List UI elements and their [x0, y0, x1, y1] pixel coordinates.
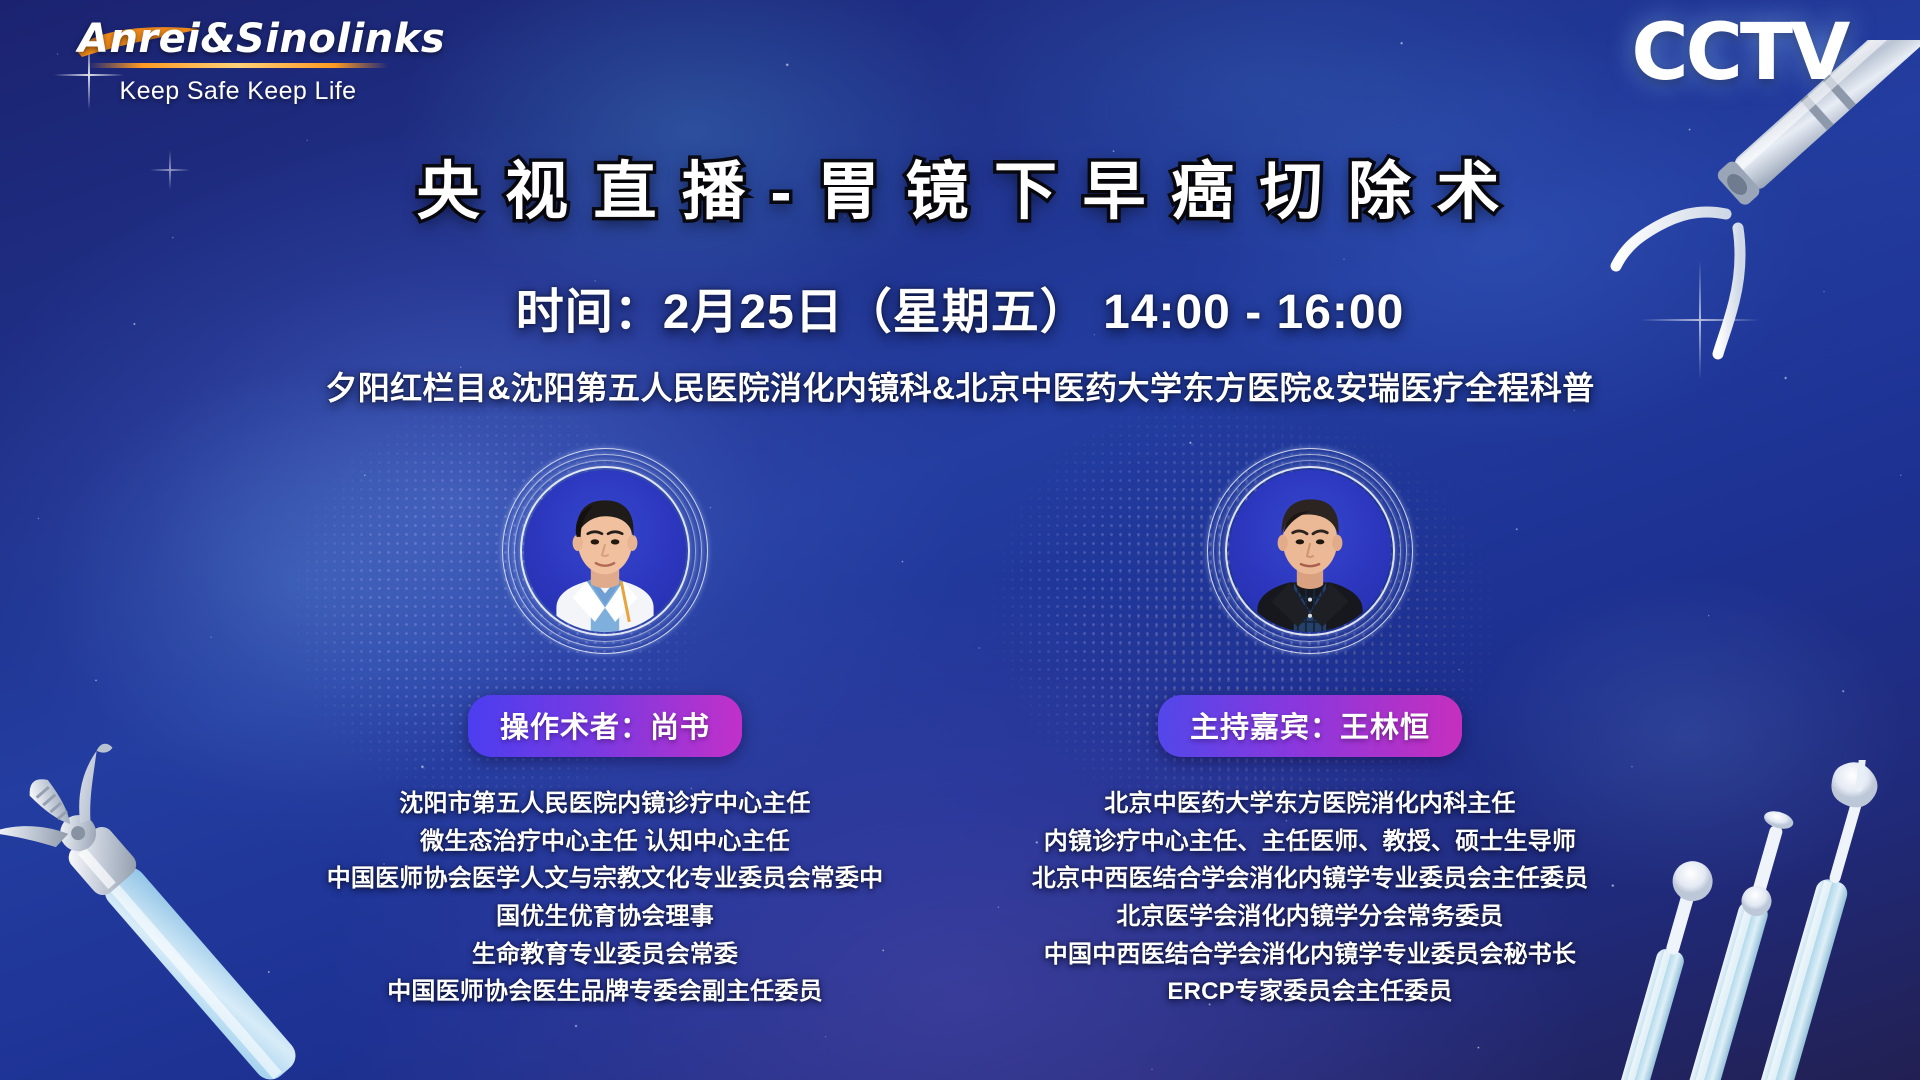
- credential-item: 北京中西医结合学会消化内镜学专业委员会主任委员: [1000, 860, 1620, 898]
- brand-divider: [88, 63, 388, 68]
- doctor-portrait-illustration: [524, 470, 686, 632]
- speaker-name-badge-host: 主持嘉宾：王林恒: [1158, 695, 1462, 757]
- credential-item: 中国医师协会医学人文与宗教文化专业委员会常委中: [295, 860, 915, 898]
- speaker-name-badge-operator: 操作术者：尚书: [468, 695, 742, 757]
- host-portrait-illustration: [1229, 470, 1391, 632]
- event-time: 时间：2月25日（星期五） 14:00 - 16:00: [0, 272, 1920, 342]
- avatar: [1207, 448, 1413, 654]
- avatar-photo-operator: [524, 470, 686, 632]
- brand-tagline: Keep Safe Keep Life: [78, 77, 398, 106]
- credential-item: 生命教育专业委员会常委: [295, 936, 915, 974]
- avatar-photo-host: [1229, 470, 1391, 632]
- credentials-list-operator: 沈阳市第五人民医院内镜诊疗中心主任 微生态治疗中心主任 认知中心主任 中国医师协…: [295, 785, 915, 1011]
- credential-item: 内镜诊疗中心主任、主任医师、教授、硕士生导师: [1000, 823, 1620, 861]
- speaker-card-host: 主持嘉宾：王林恒 北京中医药大学东方医院消化内科主任 内镜诊疗中心主任、主任医师…: [1000, 448, 1620, 1011]
- credential-item: 中国医师协会医生品牌专委会副主任委员: [295, 973, 915, 1011]
- event-partners: 夕阳红栏目&沈阳第五人民医院消化内镜科&北京中医药大学东方医院&安瑞医疗全程科普: [0, 363, 1920, 409]
- speaker-card-operator: 操作术者：尚书 沈阳市第五人民医院内镜诊疗中心主任 微生态治疗中心主任 认知中心…: [295, 448, 915, 1011]
- credential-item: 北京中医药大学东方医院消化内科主任: [1000, 785, 1620, 823]
- credential-item: 北京医学会消化内镜学分会常务委员: [1000, 898, 1620, 936]
- credential-item: 微生态治疗中心主任 认知中心主任: [295, 823, 915, 861]
- cctv-logo: CCTV.: [1631, 14, 1864, 92]
- avatar: [502, 448, 708, 654]
- credential-item: ERCP专家委员会主任委员: [1000, 973, 1620, 1011]
- credentials-list-host: 北京中医药大学东方医院消化内科主任 内镜诊疗中心主任、主任医师、教授、硕士生导师…: [1000, 785, 1620, 1011]
- credential-item: 国优生优育协会理事: [295, 898, 915, 936]
- brand-logo: Anrei&Sinolinks Keep Safe Keep Life: [78, 18, 398, 106]
- endoscopic-probes-icon: [1590, 760, 1920, 1080]
- credential-item: 沈阳市第五人民医院内镜诊疗中心主任: [295, 785, 915, 823]
- livestream-poster: Anrei&Sinolinks Keep Safe Keep Life CCTV…: [0, 0, 1920, 1080]
- page-title: 央 视 直 播 - 胃 镜 下 早 癌 切 除 术: [0, 141, 1920, 232]
- brand-name: Anrei&Sinolinks: [78, 18, 445, 60]
- credential-item: 中国中西医结合学会消化内镜学专业委员会秘书长: [1000, 936, 1620, 974]
